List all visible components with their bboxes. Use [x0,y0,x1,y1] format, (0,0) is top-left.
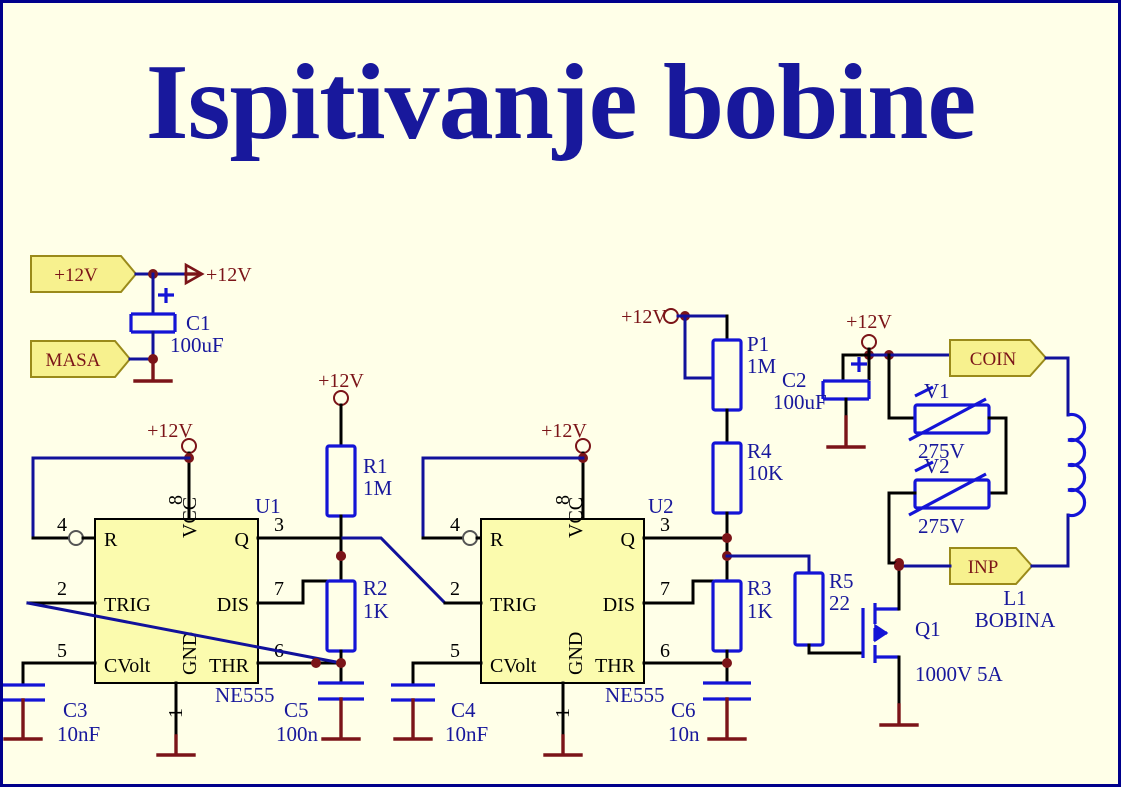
power-port-c2[interactable] [862,335,876,349]
resistor-r4-value: 10K [747,461,783,485]
resistor-r3-value: 1K [747,599,773,623]
ground-tag-masa[interactable]: MASA [31,341,130,377]
resistor-r2-body[interactable] [327,581,355,651]
potentiometer-p1-ref: P1 [747,332,769,356]
ic-u2-pin-trigger-label: TRIG [490,594,537,616]
capacitor-c1-ref: C1 [186,311,211,335]
ic-u1-pin-output-label: Q [235,529,250,551]
junction-dot [722,533,732,543]
ic-u2-pin-reset-number: 4 [450,514,460,536]
mosfet-q1-ref: Q1 [915,617,941,641]
capacitor-c2-ref: C2 [782,368,807,392]
net-tag-coin-label: COIN [970,349,1017,370]
resistor-r5-ref: R5 [829,569,854,593]
ic-u1-pin-control-number: 5 [57,640,67,662]
ground-tag-masa-label: MASA [46,350,101,371]
ic-u1-pin-output-number: 3 [274,514,284,536]
junction-dot [311,658,321,668]
net-label-12v-r1: +12V [318,370,364,392]
power-port-u1[interactable] [182,439,196,453]
ic-u2-pin-discharge-label: DIS [603,594,635,616]
varistor-v2-ref: V2 [924,454,950,478]
net-label-12v-c2: +12V [846,311,892,333]
timing-chain-u2: +12V P1 1M R4 10K R3 1K [621,306,783,746]
capacitor-c2 [823,357,869,399]
reset-pin-circle-u1[interactable] [69,531,83,545]
power-port-u2[interactable] [576,439,590,453]
net-tag-inp[interactable]: INP [950,548,1032,584]
ic-u2-pin-output-number: 3 [660,514,670,536]
ic-u1-pin-gnd-label: GND [179,632,201,675]
capacitor-c4 [391,685,435,700]
ic-u2-pin-vcc-number: 8 [552,495,574,505]
mosfet-q1[interactable] [863,603,899,663]
timing-chain-u1: +12V R1 1M R2 1K C5 100n [276,370,393,746]
capacitor-c4-value: 10nF [445,722,488,746]
ic-u1-pin-reset-number: 4 [57,514,67,536]
ic-u1-pin-discharge-number: 7 [274,578,284,600]
ic-u2-pin-trigger-number: 2 [450,578,460,600]
capacitor-c6-ref: C6 [671,698,696,722]
reset-pin-circle-u2[interactable] [463,531,477,545]
capacitor-c5-ref: C5 [284,698,309,722]
capacitor-c3-value: 10nF [57,722,100,746]
ic-u2-pin-reset-label: R [490,529,504,551]
resistor-r4-ref: R4 [747,439,772,463]
junction-dot [722,658,732,668]
inductor-l1[interactable] [1068,415,1085,516]
ic-u1-pin-reset-label: R [104,529,118,551]
resistor-r1-ref: R1 [363,454,388,478]
capacitor-c3 [3,685,45,700]
resistor-r1-body[interactable] [327,446,355,516]
resistor-r3-ref: R3 [747,576,772,600]
inductor-l1-ref: L1 [1003,586,1026,610]
inductor-l1-value: BOBINA [975,608,1056,632]
potentiometer-p1-value: 1M [747,354,777,378]
supply-tag-12v[interactable]: +12V [31,256,136,292]
resistor-r5-value: 22 [829,591,850,615]
ic-u2-pin-control-label: CVolt [490,655,537,677]
resistor-r3-body[interactable] [713,581,741,651]
ic-u1-pin-trigger-label: TRIG [104,594,151,616]
capacitor-c6 [703,683,751,699]
resistor-r2-ref: R2 [363,576,388,600]
ic-u2-pin-output-label: Q [621,529,636,551]
varistor-v1-ref: V1 [924,379,950,403]
net-label-12v-p1: +12V [621,306,667,328]
resistor-r2-value: 1K [363,599,389,623]
power-input-block: +12V +12V MASA [31,256,252,381]
capacitor-c4-ref: C4 [451,698,476,722]
power-port-p1[interactable] [664,309,678,323]
ic-u1-pin-trigger-number: 2 [57,578,67,600]
ic-u2-type: NE555 [605,683,665,707]
net-tag-coin[interactable]: COIN [950,340,1046,376]
junction-dot [894,561,904,571]
capacitor-c5-value: 100n [276,722,319,746]
schematic-canvas: +12V +12V MASA [3,3,1121,787]
ic-u2-pin-threshold-label: THR [595,655,636,677]
capacitor-c6-value: 10n [668,722,700,746]
resistor-r4-body[interactable] [713,443,741,513]
capacitor-c2-value: 100uF [773,390,827,414]
capacitor-c1-value: 100uF [170,333,224,357]
supply-tag-12v-label: +12V [54,265,98,286]
capacitor-c3-ref: C3 [63,698,88,722]
ic-u2-pin-threshold-number: 6 [660,640,670,662]
potentiometer-p1-body[interactable] [713,340,741,410]
net-tag-inp-label: INP [968,557,999,578]
junction-dot [336,551,346,561]
resistor-r5-body[interactable] [795,573,823,645]
ic-u1-pin-control-label: CVolt [104,655,151,677]
resistor-r1-value: 1M [363,476,393,500]
varistor-block: V1 275V V2 275V [889,355,1006,563]
mosfet-q1-value: 1000V 5A [915,662,1004,686]
ic-u1-pin-threshold-label: THR [209,655,250,677]
ic-u1-type: NE555 [215,683,275,707]
net-label-12v-out: +12V [206,264,252,286]
ic-u2-pin-control-number: 5 [450,640,460,662]
ic-u1-pin-discharge-label: DIS [217,594,249,616]
ic-u1-pin-vcc-number: 8 [165,495,187,505]
power-port-r1[interactable] [334,391,348,405]
junction-dot [336,658,346,668]
varistor-v2-value: 275V [918,514,965,538]
ic-u2-pin-discharge-number: 7 [660,578,670,600]
schematic-page: Ispitivanje bobine +12V +12V [0,0,1121,787]
ic-u2-pin-gnd-label: GND [565,632,587,675]
capacitor-c5 [318,683,364,699]
